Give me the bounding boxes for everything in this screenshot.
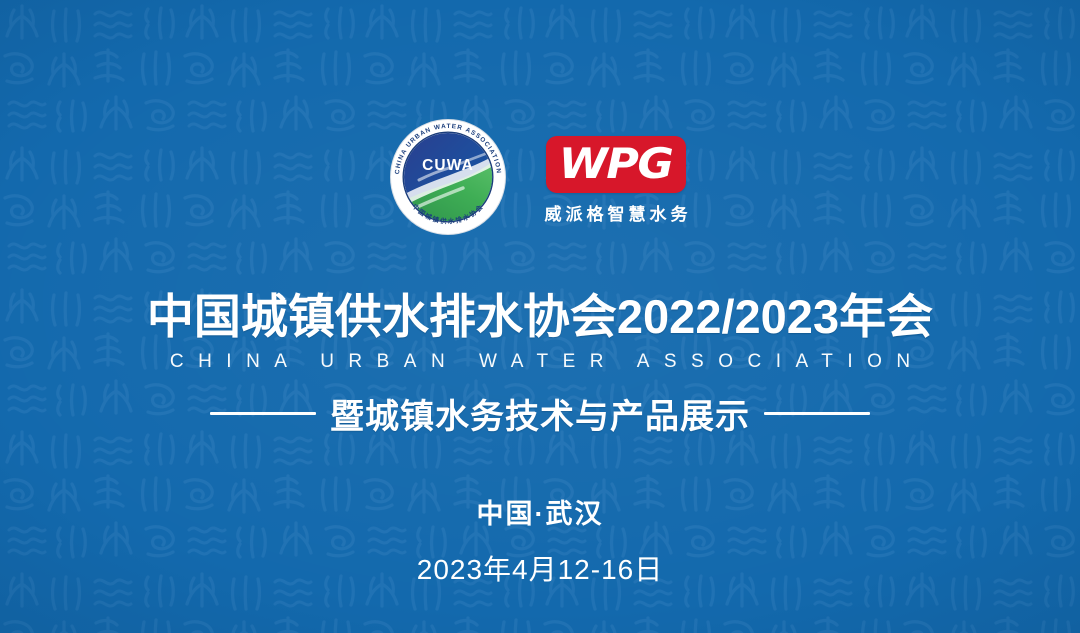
logo-row: CUWA CHINA URBAN WATER ASSOCIATION 中国城镇供… (0, 118, 1080, 236)
date-label: 2023年4月12-16日 (0, 548, 1080, 588)
conference-banner: CUWA CHINA URBAN WATER ASSOCIATION 中国城镇供… (0, 0, 1080, 633)
banner-content: CUWA CHINA URBAN WATER ASSOCIATION 中国城镇供… (0, 0, 1080, 633)
headline-block: 中国城镇供水排水协会2022/2023年会 CHINA URBAN WATER … (0, 292, 1080, 438)
wpg-badge: WPG (546, 136, 685, 193)
wpg-logo: WPG 威派格智慧水务 (541, 130, 692, 225)
tagline-text: 暨城镇水务技术与产品展示 (330, 389, 750, 438)
venue-label: 中国·武汉 (0, 492, 1080, 531)
cuwa-logo: CUWA CHINA URBAN WATER ASSOCIATION 中国城镇供… (389, 118, 507, 236)
cuwa-acronym: CUWA (422, 157, 474, 174)
page-title: 中国城镇供水排水协会2022/2023年会 (0, 292, 1080, 342)
wpg-subtitle: 威派格智慧水务 (541, 200, 692, 225)
wpg-badge-text: WPG (559, 143, 673, 185)
tagline-rule-right (764, 412, 870, 415)
tagline-rule-left (210, 412, 316, 415)
footer-info: 中国·武汉 2023年4月12-16日 (0, 492, 1080, 588)
english-subtitle: CHINA URBAN WATER ASSOCIATION (0, 351, 1080, 373)
tagline-row: 暨城镇水务技术与产品展示 (0, 389, 1080, 438)
